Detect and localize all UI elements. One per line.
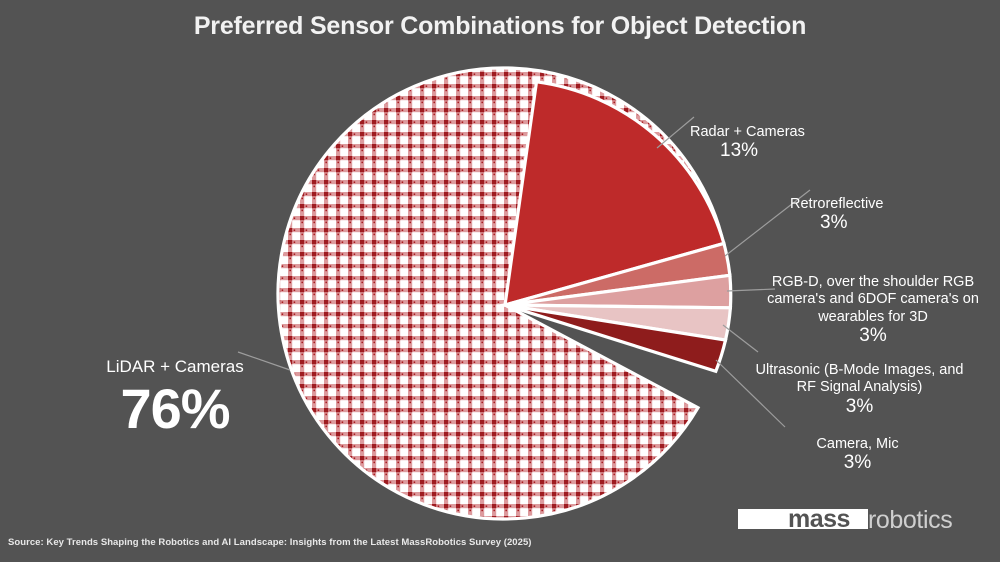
label-retroreflective-value: 3% (790, 214, 990, 232)
label-radar-value: 13% (690, 142, 920, 160)
logo-wordmark: robotics (868, 506, 952, 534)
label-lidar-name: LiDAR + Cameras (106, 357, 243, 376)
label-lidar-value: 76% (60, 379, 290, 439)
label-camera-mic: Camera, Mic 3% (770, 418, 945, 489)
label-rgbd-value: 3% (762, 327, 984, 345)
logo-mark (738, 509, 868, 529)
label-rgbd-name: RGB-D, over the shoulder RGB camera's an… (767, 274, 979, 325)
label-radar: Radar + Cameras 13% (690, 106, 920, 177)
label-camera-mic-name: Camera, Mic (816, 436, 898, 452)
label-retroreflective-name: Retroreflective (790, 196, 883, 212)
massrobotics-logo: mass robotics (738, 503, 986, 536)
label-retroreflective: Retroreflective 3% (790, 178, 990, 249)
chart-canvas: Preferred Sensor Combinations for Object… (0, 0, 1000, 562)
label-ultrasonic-value: 3% (742, 398, 977, 416)
label-ultrasonic-name: Ultrasonic (B-Mode Images, and RF Signal… (756, 362, 964, 396)
label-lidar: LiDAR + Cameras 76% (60, 340, 290, 457)
source-caption: Source: Key Trends Shaping the Robotics … (8, 537, 532, 548)
label-camera-mic-value: 3% (770, 454, 945, 472)
label-radar-name: Radar + Cameras (690, 124, 805, 140)
